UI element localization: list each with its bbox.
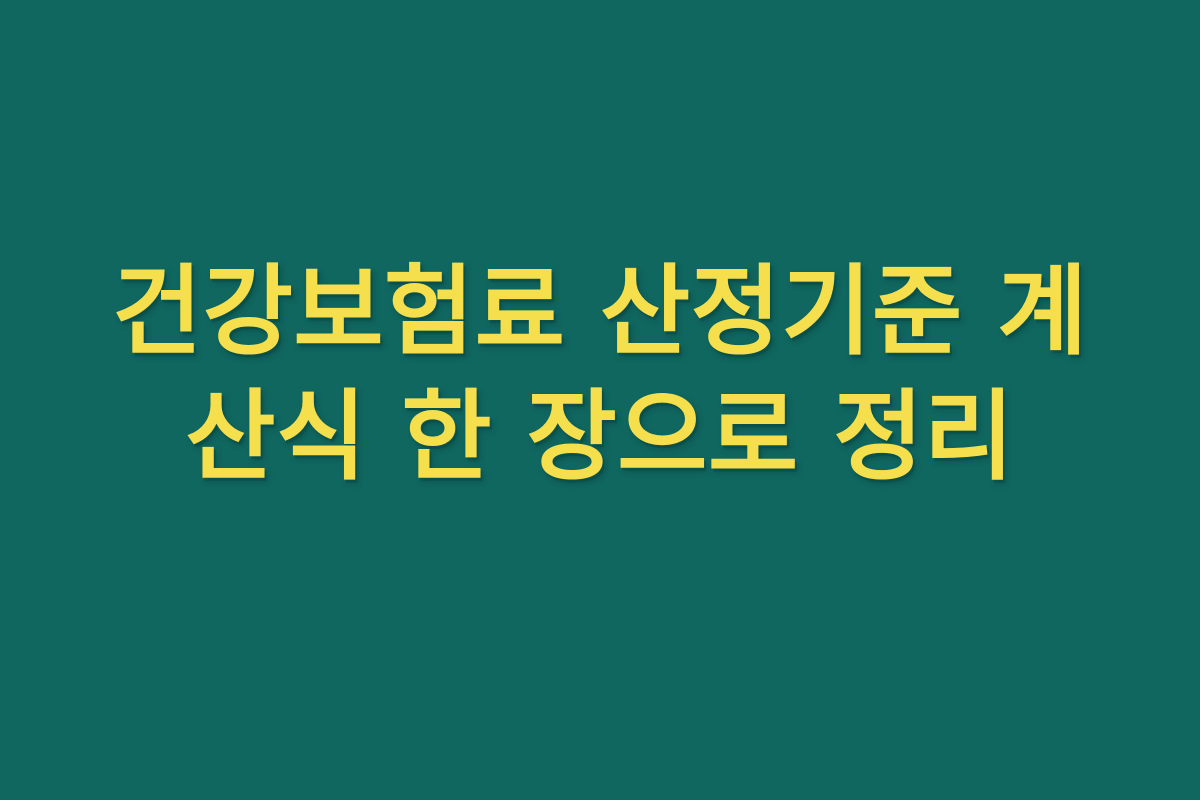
title-line-2: 산식 한 장으로 정리 <box>185 375 1014 500</box>
page-title: 건강보험료 산정기준 계 산식 한 장으로 정리 <box>70 250 1130 551</box>
title-line-1: 건강보험료 산정기준 계 <box>112 250 1088 375</box>
title-card: 건강보험료 산정기준 계 산식 한 장으로 정리 <box>0 0 1200 800</box>
